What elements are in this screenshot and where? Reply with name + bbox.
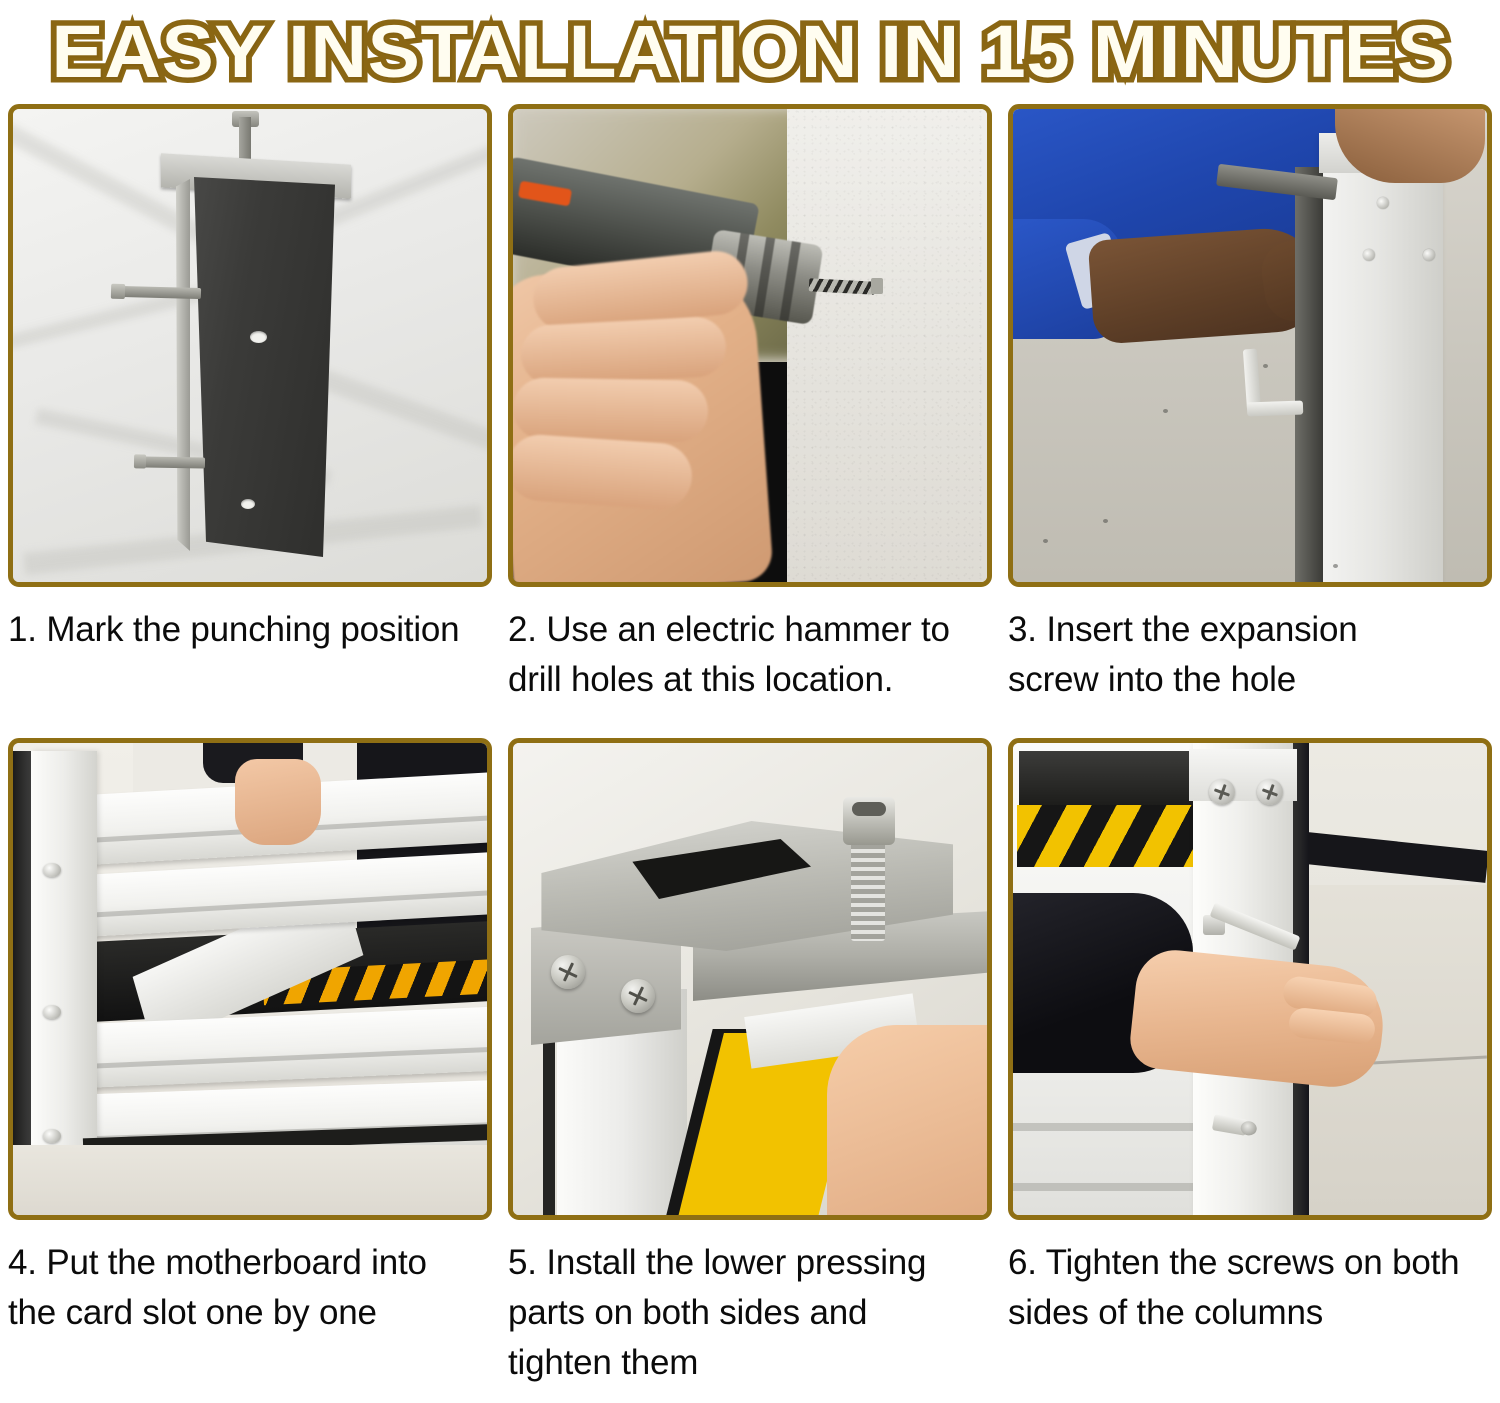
page-title: EASY INSTALLATION IN 15 MINUTES	[51, 12, 1449, 92]
textured-wall	[787, 109, 987, 582]
phillips-screw-icon	[1257, 779, 1283, 805]
step-card-3: 3. Insert the expansion screw into the h…	[1000, 104, 1500, 738]
step-5-caption: 5. Install the lower pressing parts on b…	[508, 1238, 992, 1388]
threaded-bolt-shaft	[851, 831, 885, 941]
column-screw	[43, 1129, 61, 1143]
step-card-6: 6. Tighten the screws on both sides of t…	[1000, 738, 1500, 1388]
phillips-screw-icon	[551, 955, 585, 989]
title-banner: EASY INSTALLATION IN 15 MINUTES	[0, 0, 1500, 104]
phillips-screw-icon	[621, 979, 655, 1013]
mark-hole-upper	[250, 331, 267, 343]
hand-inserting-board	[235, 759, 321, 845]
caption-line: 4. Put the motherboard into	[8, 1238, 492, 1288]
step-card-5: 5. Install the lower pressing parts on b…	[500, 738, 1000, 1388]
column-screw	[43, 863, 61, 877]
step-3-caption: 3. Insert the expansion screw into the h…	[1008, 605, 1492, 705]
top-bolt-shaft	[239, 117, 251, 163]
mark-hole-lower	[241, 499, 255, 509]
column-screw	[1363, 249, 1375, 261]
step-3-photo-frame	[1008, 104, 1492, 587]
caption-line: sides of the columns	[1008, 1288, 1492, 1338]
mark-punching-position-photo	[13, 109, 487, 582]
column-post-body	[185, 177, 335, 557]
caption-line: screw into the hole	[1008, 655, 1492, 705]
caption-line: 6. Tighten the screws on both	[1008, 1238, 1492, 1288]
floor-surface	[13, 1145, 487, 1215]
step-card-2: 2. Use an electric hammer to drill holes…	[500, 104, 1000, 738]
electric-hammer-drilling-photo	[513, 109, 987, 582]
step-4-photo-frame	[8, 738, 492, 1220]
step-5-photo-frame	[508, 738, 992, 1220]
allen-key-icon	[1243, 349, 1261, 412]
step-card-4: 4. Put the motherboard into the card slo…	[0, 738, 500, 1388]
bolt-stud-lower	[143, 456, 205, 468]
hazard-stripe-tape	[1017, 805, 1195, 867]
caption-line: 1. Mark the punching position	[8, 605, 492, 655]
step-4-caption: 4. Put the motherboard into the card slo…	[8, 1238, 492, 1338]
step-1-caption: 1. Mark the punching position	[8, 605, 492, 655]
bolt-stud-upper	[121, 286, 201, 299]
bolt-head	[843, 797, 895, 845]
step-card-1: 1. Mark the punching position	[0, 104, 500, 738]
caption-line: 3. Insert the expansion	[1008, 605, 1492, 655]
step-1-photo-frame	[8, 104, 492, 587]
column-side-edge	[176, 179, 190, 551]
caption-line: drill holes at this location.	[508, 655, 992, 705]
caption-line: the card slot one by one	[8, 1288, 492, 1338]
step-2-caption: 2. Use an electric hammer to drill holes…	[508, 605, 992, 705]
install-lower-pressing-parts-photo	[513, 743, 987, 1215]
caption-line: tighten them	[508, 1338, 992, 1388]
caption-line: 2. Use an electric hammer to	[508, 605, 992, 655]
motherboard-into-card-slot-photo	[13, 743, 487, 1215]
phillips-screw-icon	[1209, 779, 1235, 805]
drill-bit-tip	[871, 278, 883, 294]
insert-expansion-screw-photo	[1013, 109, 1487, 582]
column-screw	[1377, 197, 1389, 209]
hand-supporting-bracket	[827, 1025, 987, 1215]
step-6-photo-frame	[1008, 738, 1492, 1220]
step-2-photo-frame	[508, 104, 992, 587]
card-slot-column	[31, 751, 97, 1197]
caption-line: parts on both sides and	[508, 1288, 992, 1338]
column-shadow-edge	[1295, 167, 1323, 582]
caption-line: 5. Install the lower pressing	[508, 1238, 992, 1288]
column-screw	[1423, 249, 1435, 261]
installation-steps-grid: 1. Mark the punching position	[0, 104, 1500, 1388]
tighten-screws-columns-photo	[1013, 743, 1487, 1215]
step-6-caption: 6. Tighten the screws on both sides of t…	[1008, 1238, 1492, 1338]
column-screw	[43, 1005, 61, 1019]
